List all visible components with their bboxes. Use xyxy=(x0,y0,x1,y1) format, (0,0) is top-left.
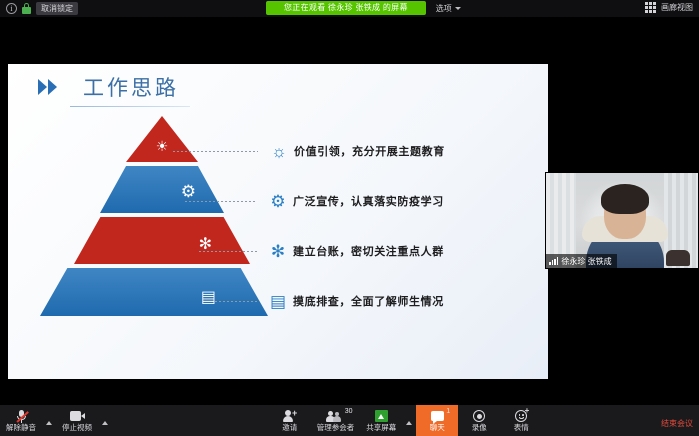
share-options-caret[interactable] xyxy=(402,405,416,436)
video-controls: 停止视频 xyxy=(56,405,112,436)
view-switch[interactable]: 画廊视图 xyxy=(645,2,693,13)
signal-bars-icon xyxy=(549,257,558,265)
grid-icon xyxy=(645,2,656,13)
background-object xyxy=(666,250,690,266)
bullet-item: ☼ 价值引领，充分开展主题教育 xyxy=(173,126,533,176)
emoji-icon: + xyxy=(515,410,527,423)
info-icon[interactable]: i xyxy=(6,3,17,14)
zoom-meeting-window: i 取消锁定 您正在观看 徐永珍 张铁成 的屏幕 选项 画廊视图 xyxy=(0,0,699,436)
chat-count-badge: 1 xyxy=(446,408,450,415)
bullet-item: ✻ 建立台账，密切关注重点人群 xyxy=(199,226,533,276)
bullet-text: 摸底排查，全面了解师生情况 xyxy=(293,293,444,309)
reactions-label: 表情 xyxy=(514,424,529,432)
slide-header: 工作思路 xyxy=(38,78,179,99)
bullet-text: 价值引领，充分开展主题教育 xyxy=(294,143,445,159)
id-card-icon: ▤ xyxy=(263,293,293,310)
meeting-stage: 工作思路 ☀ ⚙ ✻ xyxy=(0,17,699,405)
double-chevron-icon xyxy=(38,79,57,95)
top-bar-left: i 取消锁定 xyxy=(0,2,78,15)
slide-title: 工作思路 xyxy=(83,78,179,99)
unlock-button[interactable]: 取消锁定 xyxy=(36,2,78,15)
bullet-list: ☼ 价值引领，充分开展主题教育 ⚙ 广泛宣传，认真落实防疫学习 ✻ 建立台账，密… xyxy=(173,126,533,326)
end-meeting-button[interactable]: 结束会议 xyxy=(661,418,693,429)
add-person-icon: + xyxy=(283,410,296,423)
options-label: 选项 xyxy=(436,3,452,14)
share-controls: 共享屏幕 xyxy=(360,405,416,436)
reactions-button[interactable]: + 表情 xyxy=(500,405,542,436)
meeting-toolbar: 解除静音 停止视频 + 邀请 30 管理参会者 xyxy=(0,405,699,436)
gears-search-icon: ⚙ xyxy=(263,193,293,210)
record-label: 录像 xyxy=(472,424,487,432)
chat-label: 聊天 xyxy=(430,424,445,432)
invite-button[interactable]: + 邀请 xyxy=(269,405,311,436)
connector-line xyxy=(199,251,257,252)
bullet-item: ⚙ 广泛宣传，认真落实防疫学习 xyxy=(185,176,533,226)
chevron-down-icon xyxy=(455,7,461,10)
unmute-label: 解除静音 xyxy=(6,424,36,432)
chat-button[interactable]: 1 聊天 xyxy=(416,405,458,436)
audio-controls: 解除静音 xyxy=(0,405,56,436)
lightbulb-icon: ☀ xyxy=(156,139,169,153)
participant-video-tile[interactable]: 徐永珍 张铁成 xyxy=(545,172,699,269)
share-screen-icon xyxy=(375,410,388,423)
share-banner-label: 您正在观看 徐永珍 张铁成 的屏幕 xyxy=(266,1,426,15)
stop-video-button[interactable]: 停止视频 xyxy=(56,405,98,436)
invite-label: 邀请 xyxy=(282,424,297,432)
connector-line xyxy=(173,151,258,152)
share-screen-label: 共享屏幕 xyxy=(366,424,396,432)
video-options-caret[interactable] xyxy=(98,405,112,436)
people-icon xyxy=(327,410,344,423)
bullet-text: 广泛宣传，认真落实防疫学习 xyxy=(293,193,444,209)
gallery-view-label: 画廊视图 xyxy=(661,2,693,13)
screen-share-status: 您正在观看 徐永珍 张铁成 的屏幕 选项 xyxy=(266,1,461,15)
audio-options-caret[interactable] xyxy=(42,405,56,436)
participant-name: 徐永珍 张铁成 xyxy=(561,256,611,267)
record-button[interactable]: 录像 xyxy=(458,405,500,436)
participant-name-bar: 徐永珍 张铁成 xyxy=(546,254,617,268)
network-nodes-icon: ✻ xyxy=(263,243,293,260)
bullet-text: 建立台账，密切关注重点人群 xyxy=(293,243,444,259)
lightbulb-icon: ☼ xyxy=(264,143,294,160)
connector-line xyxy=(185,201,257,202)
chat-bubble-icon xyxy=(431,410,444,423)
bullet-item: ▤ 摸底排查，全面了解师生情况 xyxy=(215,276,533,326)
unmute-button[interactable]: 解除静音 xyxy=(0,405,42,436)
shared-screen-slide: 工作思路 ☀ ⚙ ✻ xyxy=(8,64,548,379)
title-divider xyxy=(70,106,190,107)
connector-line xyxy=(215,301,257,302)
options-dropdown[interactable]: 选项 xyxy=(436,3,461,14)
top-bar: i 取消锁定 您正在观看 徐永珍 张铁成 的屏幕 选项 画廊视图 xyxy=(0,0,699,17)
person-hair xyxy=(601,184,649,214)
lock-icon[interactable] xyxy=(22,3,31,14)
manage-participants-button[interactable]: 30 管理参会者 xyxy=(311,405,361,436)
camera-icon xyxy=(70,410,85,423)
record-icon xyxy=(473,410,485,423)
mic-muted-icon xyxy=(16,410,27,423)
share-screen-button[interactable]: 共享屏幕 xyxy=(360,405,402,436)
manage-participants-label: 管理参会者 xyxy=(317,424,355,432)
stop-video-label: 停止视频 xyxy=(62,424,92,432)
participant-count-badge: 30 xyxy=(345,408,353,415)
